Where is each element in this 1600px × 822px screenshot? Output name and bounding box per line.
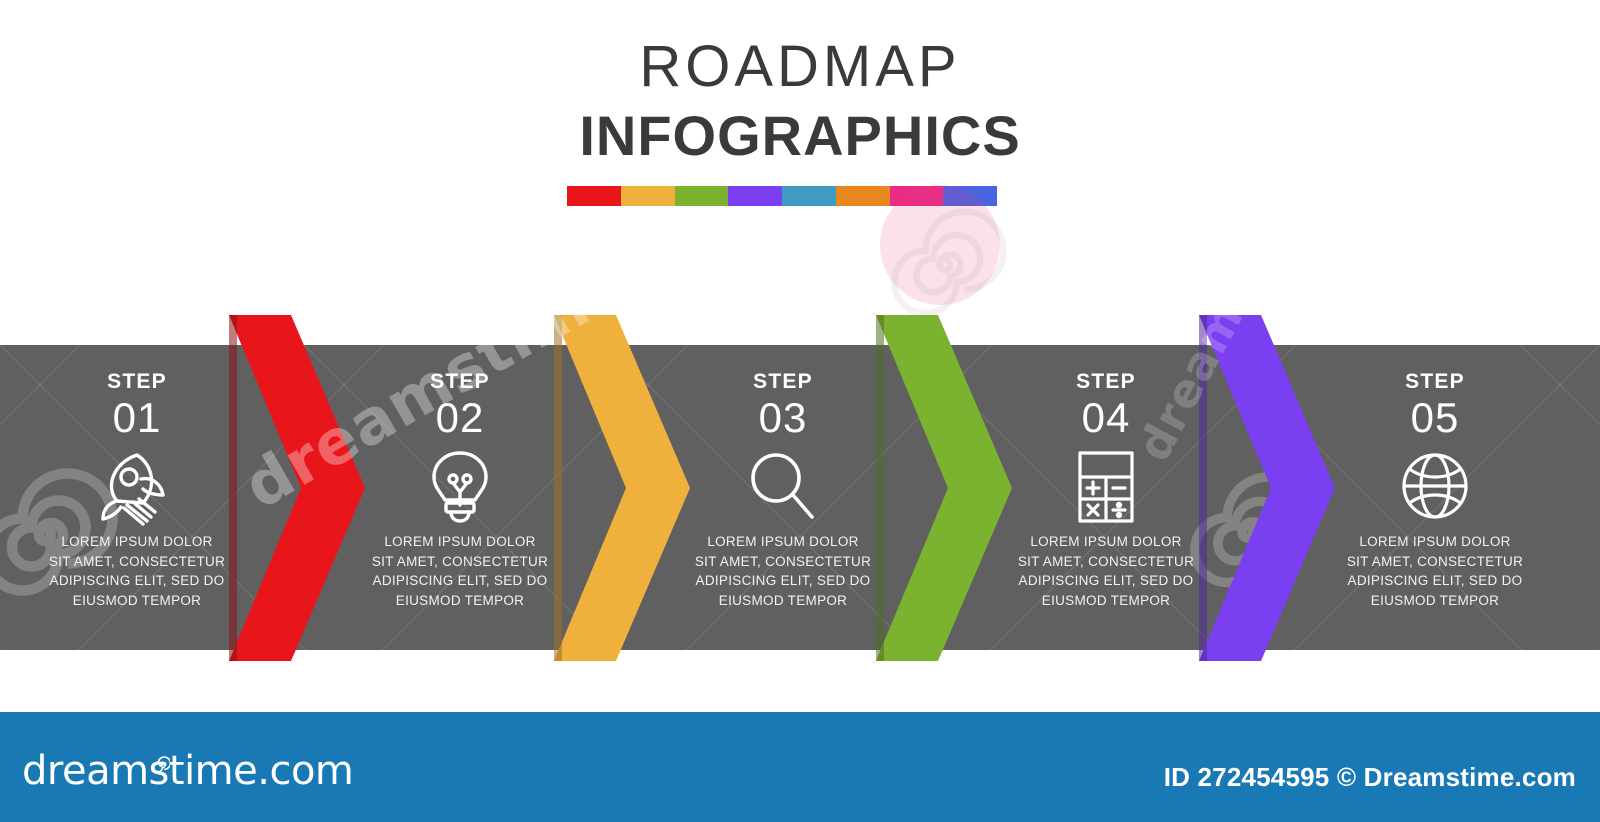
desc-line: SIT AMET, CONSECTETUR <box>658 552 908 572</box>
desc-line: SIT AMET, CONSECTETUR <box>1310 552 1560 572</box>
color-bar-segment-red <box>567 186 621 206</box>
step-description: LOREM IPSUM DOLOR SIT AMET, CONSECTETUR … <box>12 532 262 610</box>
step-column-02[interactable]: STEP 02 LOREM IPSUM DOLOR SIT AMET, CONS… <box>335 345 585 650</box>
step-number: 04 <box>981 396 1231 440</box>
header: ROADMAP INFOGRAPHICS <box>0 0 1600 300</box>
step-column-04[interactable]: STEP 04 LOREM IPSUM DOLOR S <box>981 345 1231 650</box>
desc-line: EIUSMOD TEMPOR <box>12 591 262 611</box>
color-bar-segment-blue <box>943 186 997 206</box>
step-label: STEP <box>12 371 262 392</box>
calculator-icon <box>981 448 1231 526</box>
step-column-03[interactable]: STEP 03 LOREM IPSUM DOLOR SIT AMET, CONS… <box>658 345 908 650</box>
step-description: LOREM IPSUM DOLOR SIT AMET, CONSECTETUR … <box>1310 532 1560 610</box>
globe-icon <box>1310 448 1560 526</box>
rocket-icon <box>12 448 262 526</box>
page-title-infographics: INFOGRAPHICS <box>0 108 1600 164</box>
desc-line: LOREM IPSUM DOLOR <box>335 532 585 552</box>
step-column-05[interactable]: STEP 05 LOREM IPSUM DOLOR SIT AMET, CONS… <box>1310 345 1560 650</box>
color-bar-segment-gold <box>621 186 675 206</box>
dreamstime-spiral-icon <box>152 738 170 756</box>
step-label: STEP <box>981 371 1231 392</box>
lightbulb-icon <box>335 448 585 526</box>
color-bar <box>567 186 997 206</box>
step-description: LOREM IPSUM DOLOR SIT AMET, CONSECTETUR … <box>981 532 1231 610</box>
step-description: LOREM IPSUM DOLOR SIT AMET, CONSECTETUR … <box>658 532 908 610</box>
step-number: 05 <box>1310 396 1560 440</box>
infographic-canvas: ROADMAP INFOGRAPHICS STEP 01 <box>0 0 1600 822</box>
desc-line: EIUSMOD TEMPOR <box>335 591 585 611</box>
color-bar-segment-purple <box>728 186 782 206</box>
magnifier-icon <box>658 448 908 526</box>
color-bar-segment-magenta <box>890 186 944 206</box>
step-label: STEP <box>1310 371 1560 392</box>
color-bar-segment-teal <box>782 186 836 206</box>
step-label: STEP <box>335 371 585 392</box>
desc-line: SIT AMET, CONSECTETUR <box>12 552 262 572</box>
desc-line: EIUSMOD TEMPOR <box>1310 591 1560 611</box>
step-column-01[interactable]: STEP 01 LOREM IPSUM DOLOR SIT AMET, CONS… <box>12 345 262 650</box>
step-number: 03 <box>658 396 908 440</box>
page-title-roadmap: ROADMAP <box>0 38 1600 96</box>
desc-line: LOREM IPSUM DOLOR <box>12 532 262 552</box>
color-bar-segment-green <box>675 186 729 206</box>
step-label: STEP <box>658 371 908 392</box>
desc-line: SIT AMET, CONSECTETUR <box>335 552 585 572</box>
desc-line: ADIPISCING ELIT, SED DO <box>335 571 585 591</box>
desc-line: SIT AMET, CONSECTETUR <box>981 552 1231 572</box>
dreamstime-logo: dreamstime.com <box>22 748 353 794</box>
desc-line: LOREM IPSUM DOLOR <box>1310 532 1560 552</box>
image-id-label: ID 272454595 © Dreamstime.com <box>1164 762 1576 793</box>
dreamstime-logo-text: dreamstime.com <box>22 748 353 794</box>
desc-line: ADIPISCING ELIT, SED DO <box>658 571 908 591</box>
footer-bar: dreamstime.com ID 272454595 © Dreamstime… <box>0 712 1600 822</box>
step-number: 02 <box>335 396 585 440</box>
step-description: LOREM IPSUM DOLOR SIT AMET, CONSECTETUR … <box>335 532 585 610</box>
color-bar-segment-orange <box>836 186 890 206</box>
desc-line: LOREM IPSUM DOLOR <box>981 532 1231 552</box>
step-number: 01 <box>12 396 262 440</box>
desc-line: ADIPISCING ELIT, SED DO <box>981 571 1231 591</box>
desc-line: ADIPISCING ELIT, SED DO <box>12 571 262 591</box>
desc-line: ADIPISCING ELIT, SED DO <box>1310 571 1560 591</box>
desc-line: EIUSMOD TEMPOR <box>658 591 908 611</box>
desc-line: EIUSMOD TEMPOR <box>981 591 1231 611</box>
desc-line: LOREM IPSUM DOLOR <box>658 532 908 552</box>
